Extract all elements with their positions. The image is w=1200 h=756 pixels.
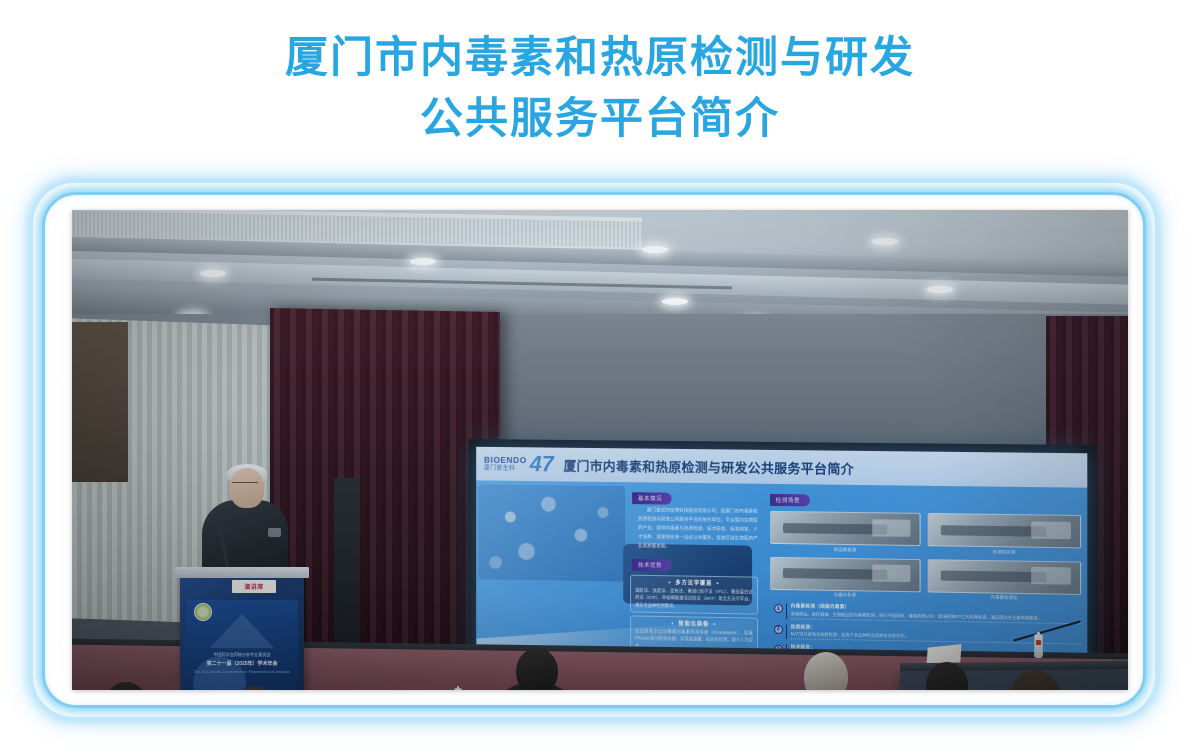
microscope-image-decor	[478, 484, 625, 581]
slide-numbered-item: 1 内毒素检测（细菌内毒素） 承接药品、医疗器械、生物制品的内毒素检测，执行中国…	[774, 603, 1081, 624]
list-divider	[786, 624, 787, 640]
section-tag-tech: 技术优势	[632, 559, 672, 572]
audience-head	[516, 648, 558, 690]
section-tag-scenes: 检测场景	[770, 494, 810, 507]
section-tag-basic: 基本情况	[632, 492, 672, 504]
podium-sign: 演讲席	[232, 580, 276, 593]
jacket-logo	[268, 528, 281, 537]
banner-title-english: The 21st Annual Conference on Pharmaceut…	[192, 670, 292, 674]
slide-photo-caption: 样品前处理	[770, 545, 921, 553]
water-bottle	[1034, 634, 1043, 658]
slide-photo-thumb	[928, 513, 1081, 548]
podium: 演讲席 中国药学会药物分析专业委员会 第二十一届（2025年）学术年会 The …	[180, 574, 304, 690]
bioendo-logo: BIOENDO 厦门鲎生科	[484, 456, 527, 472]
tech-box-text: 凝胶法、浊度法、显色法、重组C因子法（rFC）、重组蛋白试剂法（rCR）、单核细…	[635, 586, 753, 610]
slide-title: 厦门市内毒素和热原检测与研发公共服务平台简介	[564, 455, 855, 477]
ceiling-downlight-icon	[200, 270, 226, 277]
logo-english-text: BIOENDO	[484, 456, 527, 465]
ceiling	[72, 210, 1128, 328]
photo-scene: BIOENDO 厦门鲎生科 47 厦门市内毒素和热原检测与研发公共服务平台简介 …	[72, 210, 1128, 690]
page-root: 厦门市内毒素和热原检测与研发 公共服务平台简介	[0, 0, 1200, 756]
podium-top-surface	[175, 567, 309, 578]
ceiling-downlight-icon	[927, 286, 953, 293]
slide-photo-cell: 样品前处理	[770, 511, 921, 554]
stage-curtain-left	[270, 308, 500, 690]
logo-chinese-text: 厦门鲎生科	[484, 466, 527, 472]
glasses-icon	[232, 482, 258, 488]
slide-photo-caption: 仪器分析室	[770, 591, 921, 600]
list-body: 内毒素检测（细菌内毒素） 承接药品、医疗器械、生物制品的内毒素检测，执行中国药典…	[791, 603, 1081, 624]
podium-banner: 中国药学会药物分析专业委员会 第二十一届（2025年）学术年会 The 21st…	[186, 600, 298, 690]
water-bottle	[454, 688, 462, 690]
slide-photo-thumb	[770, 511, 921, 546]
ceiling-downlight-icon	[662, 298, 688, 305]
slide-photo-caption: 检测实验室	[928, 548, 1081, 556]
logo-mark-47: 47	[530, 454, 554, 475]
pa-speaker-cabinet	[334, 478, 360, 664]
list-divider	[786, 603, 787, 619]
ceiling-downlight-icon	[410, 258, 436, 265]
conference-photo: BIOENDO 厦门鲎生科 47 厦门市内毒素和热原检测与研发公共服务平台简介 …	[72, 210, 1128, 690]
ceiling-downlight-icon	[872, 238, 898, 245]
slide-photo-thumb	[928, 559, 1081, 595]
tech-box: 多方法学覆盖 凝胶法、浊度法、显色法、重组C因子法（rFC）、重组蛋白试剂法（r…	[630, 574, 758, 615]
banner-title-line-1: 中国药学会药物分析专业委员会	[192, 652, 292, 658]
slide-photo-cell: 内毒素检测区	[928, 559, 1081, 602]
banner-title-line-2: 第二十一届（2025年）学术年会	[192, 660, 292, 667]
banner-triangle-decor	[210, 614, 274, 648]
list-number-badge: 1	[774, 604, 783, 613]
slide-photo-cell: 仪器分析室	[770, 556, 921, 599]
section-paragraph-basic: 厦门鲎试剂生物科技股份有限公司，是厦门市内毒素和热原检测与研发公共服务平台的依托…	[632, 506, 762, 552]
page-title: 厦门市内毒素和热原检测与研发 公共服务平台简介	[0, 28, 1200, 150]
list-number-badge: 2	[774, 625, 783, 634]
slide-photo-caption: 内毒素检测区	[928, 593, 1081, 602]
wall-wood-trim	[72, 322, 128, 482]
speaker-head	[230, 468, 264, 508]
page-title-line-1: 厦门市内毒素和热原检测与研发	[0, 28, 1200, 89]
page-title-line-2: 公共服务平台简介	[0, 89, 1200, 150]
slide-photo-grid: 样品前处理 检测实验室 仪器分析室	[770, 511, 1081, 602]
ceiling-downlight-icon	[642, 246, 668, 253]
slide-photo-cell: 检测实验室	[928, 513, 1081, 556]
slide-photo-thumb	[770, 556, 921, 591]
